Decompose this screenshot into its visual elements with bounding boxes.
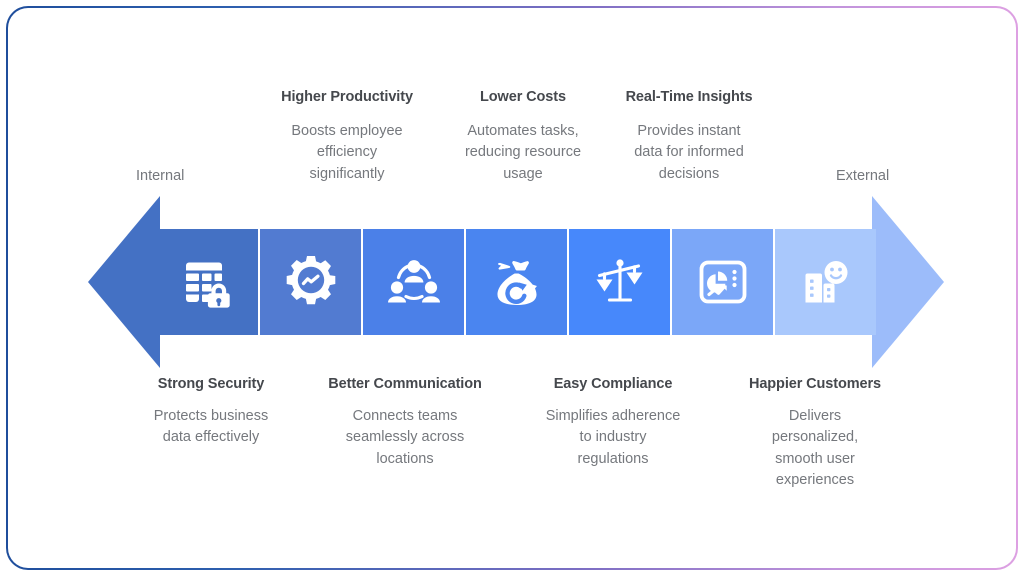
- segment-description: Connects teams seamlessly across locatio…: [314, 406, 496, 470]
- endpoint-label-internal: Internal: [136, 168, 184, 184]
- segment-label-easy-compliance: Easy Compliance Simplifies adherence to …: [522, 376, 704, 470]
- segment-title: Real-Time Insights: [598, 89, 780, 105]
- segment-label-strong-security: Strong Security Protects business data e…: [120, 376, 302, 449]
- infographic-frame: Internal External Higher Productivity Bo…: [0, 0, 1024, 576]
- people-network-icon: [385, 253, 443, 311]
- segment-description: Provides instant data for informed decis…: [598, 121, 780, 185]
- segment-description: Delivers personalized, smooth user exper…: [724, 406, 906, 492]
- segment-title: Strong Security: [120, 376, 302, 392]
- segment-description: Protects business data effectively: [120, 406, 302, 449]
- segment-label-happier-customers: Happier Customers Delivers personalized,…: [724, 376, 906, 492]
- segment-tile-better-communication[interactable]: [363, 229, 464, 335]
- segment-label-better-communication: Better Communication Connects teams seam…: [314, 376, 496, 470]
- segment-label-lower-costs: Lower Costs Automates tasks, reducing re…: [432, 89, 614, 185]
- segment-title: Higher Productivity: [256, 89, 438, 105]
- segment-tile-strong-security[interactable]: [157, 229, 258, 335]
- diagram-canvas: Internal External Higher Productivity Bo…: [0, 0, 1024, 576]
- balance-scale-icon: [591, 253, 649, 311]
- segment-tile-happier-customers[interactable]: [775, 229, 876, 335]
- table-lock-icon: [179, 253, 237, 311]
- segment-title: Easy Compliance: [522, 376, 704, 392]
- segment-tile-higher-productivity[interactable]: [260, 229, 361, 335]
- segment-tile-easy-compliance[interactable]: [569, 229, 670, 335]
- arrow-head-left-icon: [88, 196, 160, 368]
- process-arrow: [88, 196, 944, 368]
- segment-description: Automates tasks, reducing resource usage: [432, 121, 614, 185]
- segment-description: Boosts employee efficiency significantly: [256, 121, 438, 185]
- segment-title: Lower Costs: [432, 89, 614, 105]
- segment-tile-lower-costs[interactable]: [466, 229, 567, 335]
- segment-label-real-time-insights: Real-Time Insights Provides instant data…: [598, 89, 780, 185]
- segment-title: Happier Customers: [724, 376, 906, 392]
- gear-chart-icon: [282, 253, 340, 311]
- dashboard-report-icon: [694, 253, 752, 311]
- segment-title: Better Communication: [314, 376, 496, 392]
- building-smiley-icon: [797, 253, 855, 311]
- segment-label-higher-productivity: Higher Productivity Boosts employee effi…: [256, 89, 438, 185]
- segment-description: Simplifies adherence to industry regulat…: [522, 406, 704, 470]
- segment-tile-strip: [157, 229, 876, 335]
- endpoint-label-external: External: [836, 168, 889, 184]
- arrow-head-right-icon: [872, 196, 944, 368]
- money-bag-arrow-icon: [488, 253, 546, 311]
- segment-tile-real-time-insights[interactable]: [672, 229, 773, 335]
